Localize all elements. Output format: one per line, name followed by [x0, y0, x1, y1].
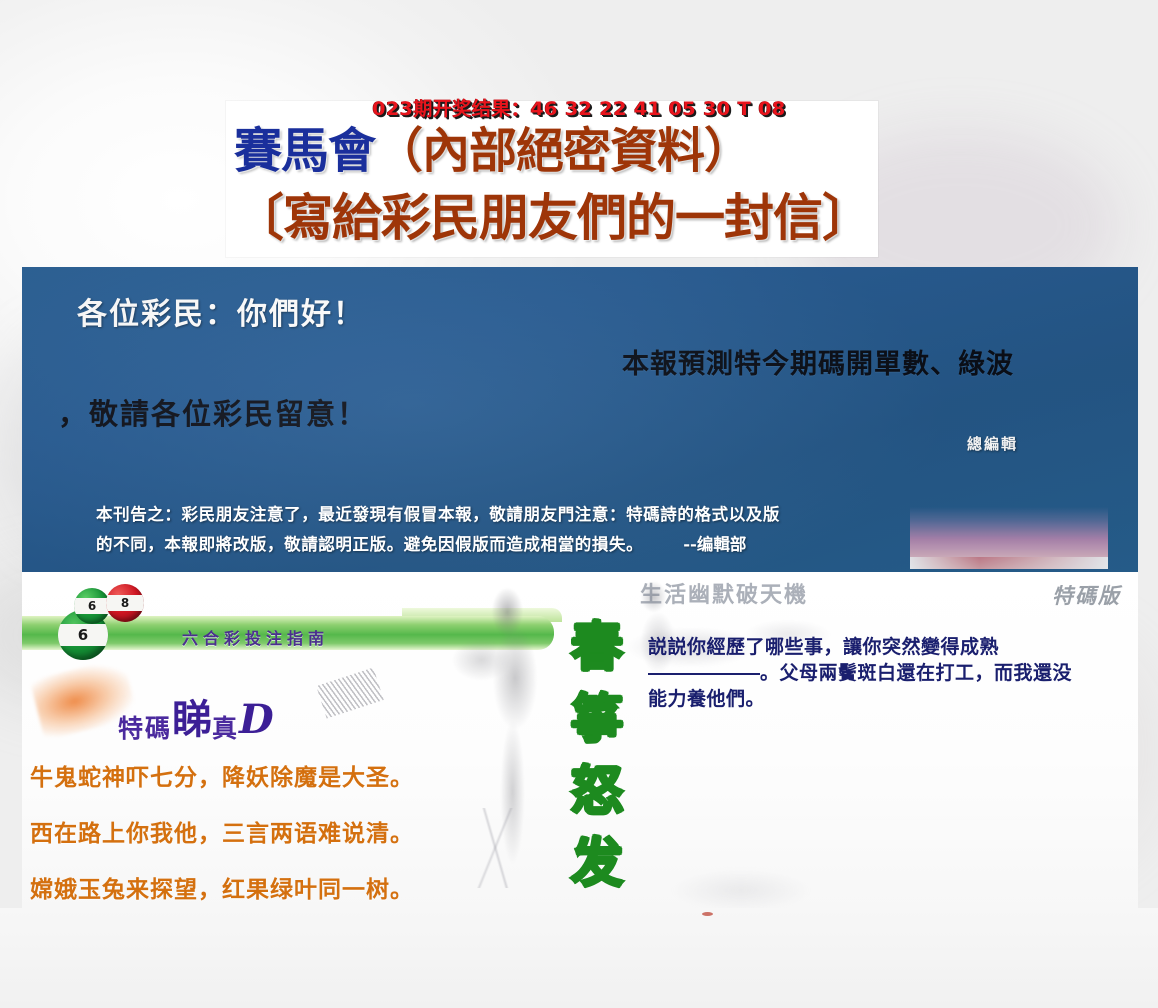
draw-result-strip: 023期开奖结果：46 32 22 41 05 30 T 08: [0, 94, 1158, 121]
vertical-title: 春 箏 怒 发: [560, 612, 634, 900]
masthead-subtitle: （內部絕密資料）: [375, 123, 751, 179]
lottery-ball-red-number: 8: [106, 595, 144, 612]
blank-underline: [648, 673, 760, 675]
lottery-ball-green-small-number: 6: [74, 598, 110, 614]
dancer-shadow-decor: [636, 848, 846, 910]
notice-department: --编輯部: [683, 535, 746, 554]
banner-label: 六合彩投注指南: [182, 625, 329, 649]
masthead-line-1: 賽馬會（內部絕密資料）: [234, 127, 751, 175]
red-speck-decor: [702, 912, 713, 916]
edition-badge: 特碼版: [1052, 580, 1121, 610]
tema-logo: 特碼睇真D: [118, 687, 274, 745]
vertical-title-char: 发: [560, 828, 634, 900]
masthead-org-name: 賽馬會: [234, 123, 375, 179]
tema-logo-mid: 真: [212, 714, 237, 743]
notice-line-2-text: 的不同，本報即將改版，敬請認明正版。避免因假版而造成相當的損失。: [96, 535, 643, 554]
brush-stroke-icon: [316, 668, 384, 719]
letter-attention: ，敬請各位彩民留意！: [58, 391, 368, 433]
editor-letter-panel: 各位彩民：你們好！ 本報預測特今期碼開單數、綠波 ，敬請各位彩民留意！ 總編輯 …: [22, 267, 1138, 572]
vertical-title-char: 怒: [560, 756, 634, 828]
poem-line: 西在路上你我他，三言两语难说清。: [30, 806, 550, 862]
letter-signature: 總編輯: [967, 433, 1018, 454]
lottery-poster-page: 023期开奖结果：46 32 22 41 05 30 T 08 賽馬會（內部絕密…: [0, 0, 1158, 1008]
draw-result-text: 023期开奖结果：46 32 22 41 05 30 T 08: [372, 94, 786, 121]
commentary-text: 説説你經歷了哪些事，讓你突然變得成熟 。父母兩鬢斑白還在打工，而我還没 能力養他…: [648, 634, 1148, 712]
commentary-line-1: 説説你經歷了哪些事，讓你突然變得成熟: [648, 634, 1148, 660]
commentary-line-2: 。父母兩鬢斑白還在打工，而我還没: [648, 660, 1148, 686]
poem-line: 牛鬼蛇神吓七分，降妖除魔是大圣。: [30, 750, 550, 806]
prediction-poem: 牛鬼蛇神吓七分，降妖除魔是大圣。 西在路上你我他，三言两语难说清。 嫦娥玉兔来探…: [30, 750, 550, 910]
commentary-line-3: 能力養他們。: [648, 686, 1148, 712]
tema-logo-prefix: 特碼: [118, 714, 172, 743]
notice-line-1: 本刊告之：彩民朋友注意了，最近發現有假冒本報，敬請朋友門注意：特碼詩的格式以及版: [96, 500, 1096, 530]
letter-greeting: 各位彩民：你們好！: [77, 289, 365, 333]
tema-logo-letter-d: D: [239, 696, 274, 743]
masthead-line-2: 〔寫給彩民朋友們的一封信〕: [234, 193, 871, 243]
poem-line: 嫦娥玉兔来探望，红果绿叶同一树。: [30, 862, 550, 910]
lottery-ball-green-number: 6: [58, 624, 108, 646]
vertical-title-char: 春: [560, 612, 634, 684]
bottom-fade: [0, 908, 1158, 1008]
masthead-title-block: 賽馬會（內部絕密資料） 〔寫給彩民朋友們的一封信〕: [226, 101, 878, 257]
vertical-title-char: 箏: [560, 684, 634, 756]
lower-content-area: 六合彩投注指南 6 6 8 特碼睇真D 牛鬼蛇神吓七分，降妖除魔是大圣。 西在路…: [22, 572, 1138, 910]
tema-logo-main: 睇: [172, 696, 212, 743]
editorial-notice: 本刊告之：彩民朋友注意了，最近發現有假冒本報，敬請朋友門注意：特碼詩的格式以及版…: [96, 500, 1096, 560]
lottery-ball-red-icon: 8: [106, 584, 144, 622]
letter-forecast: 本報預測特今期碼開單數、綠波: [622, 342, 1014, 381]
notice-line-2: 的不同，本報即將改版，敬請認明正版。避免因假版而造成相當的損失。--编輯部: [96, 530, 1096, 560]
lottery-ball-green-small-icon: 6: [74, 588, 110, 624]
commentary-line-2-text: 。父母兩鬢斑白還在打工，而我還没: [760, 662, 1072, 684]
